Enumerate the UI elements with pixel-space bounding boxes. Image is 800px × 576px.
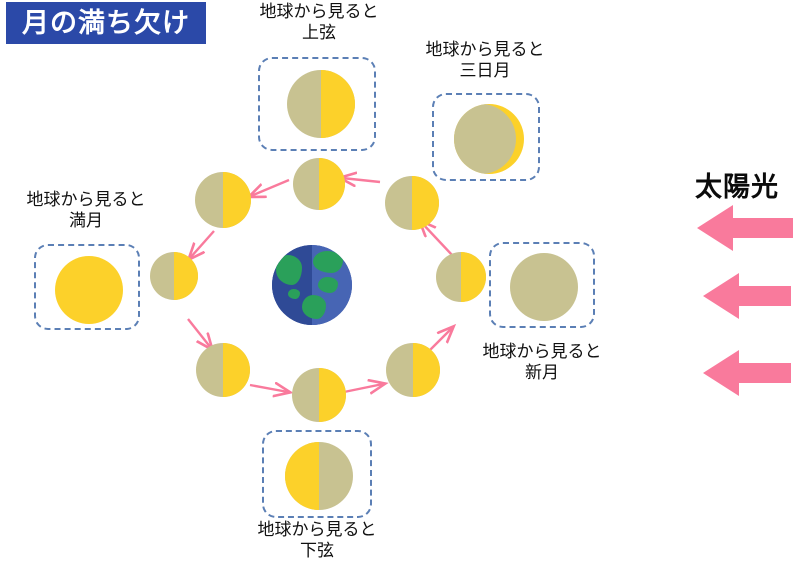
sunlight-arrow-2 (703, 273, 791, 319)
earth-landmass (318, 277, 338, 293)
earth-landmass (313, 251, 343, 273)
earth-landmass (276, 255, 302, 285)
moon-dark-side (510, 253, 578, 321)
orbit-moon-bottom (292, 368, 346, 422)
callout-box-new-moon (489, 242, 595, 328)
callout-label-first-quarter: 地球から見ると 上弦 (236, 2, 402, 43)
earth-landmass (302, 295, 326, 319)
orbit-moon-top (293, 158, 345, 210)
moon-lit-side (174, 252, 198, 300)
moon-crescent (454, 104, 524, 174)
moon-first-quarter (287, 70, 355, 138)
page-title: 月の満ち欠け (6, 2, 206, 44)
sunlight-arrow-1 (697, 205, 793, 251)
moon-lit-side (319, 368, 346, 422)
moon-lit-side (321, 70, 355, 138)
orbit-moon-left (150, 252, 198, 300)
moon-lit-side (413, 343, 440, 397)
moon-lit-side (319, 158, 345, 210)
orbit-moon-right (436, 252, 486, 302)
orbit-moon-top-right (385, 176, 439, 230)
callout-box-first-quarter (258, 57, 376, 151)
moon-new (510, 253, 578, 321)
earth-landmass (288, 289, 300, 299)
moon-lit-side (223, 172, 251, 228)
callout-label-new-moon: 地球から見ると 新月 (459, 342, 625, 383)
moon-lit-side (285, 442, 319, 510)
callout-label-crescent: 地球から見ると 三日月 (402, 40, 568, 81)
callout-box-full-moon (34, 244, 140, 330)
moon-lit-side (461, 252, 486, 302)
callout-label-last-quarter: 地球から見ると 下弦 (234, 520, 400, 561)
diagram-canvas: 月の満ち欠け (0, 0, 800, 576)
orbit-moon-bottom-left (196, 343, 250, 397)
moon-lit-side (223, 343, 250, 397)
moon-last-quarter (285, 442, 353, 510)
orbit-moon-top-left (195, 172, 251, 228)
callout-label-full-moon: 地球から見ると 満月 (3, 190, 169, 231)
callout-box-last-quarter (262, 430, 372, 518)
moon-full (55, 256, 123, 324)
sunlight-arrow-3 (703, 350, 791, 396)
sunlight-label: 太陽光 (695, 165, 779, 204)
moon-lit-side (412, 176, 439, 230)
orbit-moon-bottom-right (386, 343, 440, 397)
callout-box-crescent (432, 93, 540, 181)
earth-globe (272, 245, 352, 325)
moon-lit-side (55, 256, 123, 324)
